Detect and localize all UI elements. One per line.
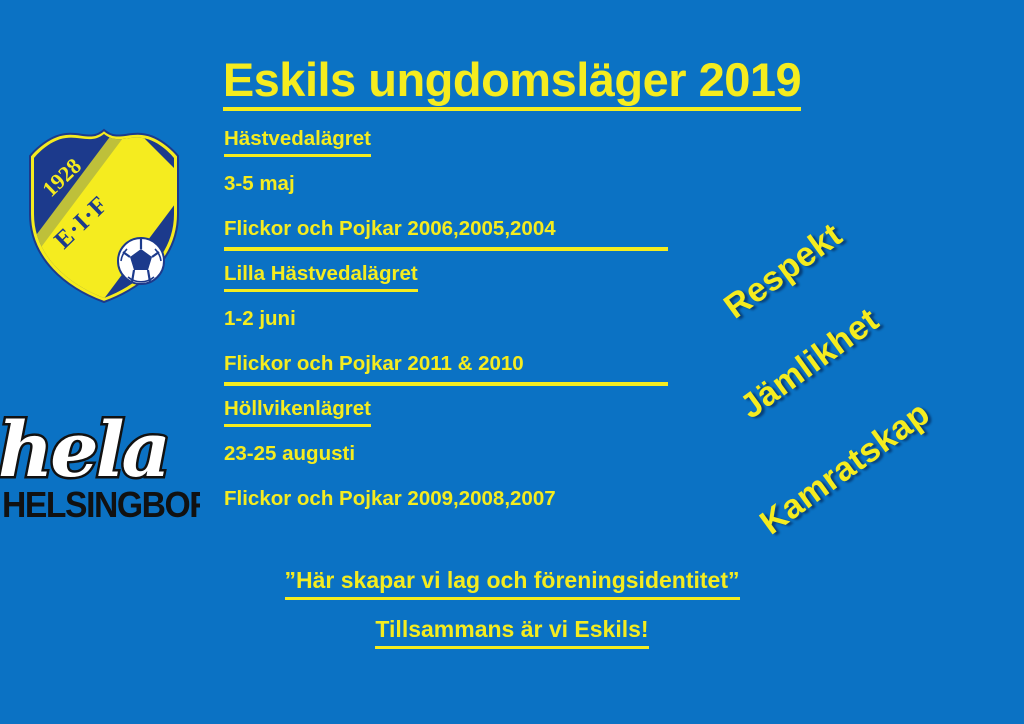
- camp-line-2-text: 3-5 maj: [224, 171, 295, 197]
- camp-line-6-text: Flickor och Pojkar 2011 & 2010: [224, 351, 524, 377]
- camp-line-1: Hästvedalägret: [224, 126, 694, 171]
- camp-line-8: 23-25 augusti: [224, 441, 694, 486]
- camp-line-9-text: Flickor och Pojkar 2009,2008,2007: [224, 486, 556, 512]
- quote-line-2-text: Tillsammans är vi Eskils!: [375, 615, 648, 645]
- camp-line-3: Flickor och Pojkar 2006,2005,2004: [224, 216, 694, 261]
- camp-line-5: 1-2 juni: [224, 306, 694, 351]
- club-crest-logo: 1928 E·I·F: [28, 128, 180, 303]
- camp-line-5-text: 1-2 juni: [224, 306, 296, 332]
- camp-line-6: Flickor och Pojkar 2011 & 2010: [224, 351, 694, 396]
- hela-caps-text: HELSINGBORG: [2, 485, 200, 524]
- quote-block: ”Här skapar vi lag och föreningsidentite…: [0, 566, 1024, 645]
- quote-line-2: Tillsammans är vi Eskils!: [0, 615, 1024, 645]
- soccer-ball-icon: [118, 238, 164, 284]
- camp-line-9: Flickor och Pojkar 2009,2008,2007: [224, 486, 694, 531]
- camp-line-4: Lilla Hästvedalägret: [224, 261, 694, 306]
- hela-script-text: hela: [0, 405, 168, 494]
- value-word-kamratskap: Kamratskap: [753, 394, 937, 543]
- camp-line-2: 3-5 maj: [224, 171, 694, 216]
- camp-line-1-text: Hästvedalägret: [224, 126, 371, 152]
- camp-line-3-text: Flickor och Pojkar 2006,2005,2004: [224, 216, 556, 242]
- camp-line-8-text: 23-25 augusti: [224, 441, 355, 467]
- camp-line-7: Höllvikenlägret: [224, 396, 694, 441]
- value-word-respekt: Respekt: [717, 216, 850, 327]
- poster-canvas: Eskils ungdomsläger 2019 1928 E·I·F: [0, 0, 1024, 724]
- page-title-text: Eskils ungdomsläger 2019: [223, 55, 801, 111]
- page-title: Eskils ungdomsläger 2019: [0, 52, 1024, 111]
- camp-list: Hästvedalägret 3-5 maj Flickor och Pojka…: [224, 126, 694, 531]
- values-group: Respekt Jämlikhet Kamratskap: [720, 160, 1024, 540]
- camp-line-4-text: Lilla Hästvedalägret: [224, 261, 418, 287]
- quote-line-1: ”Här skapar vi lag och föreningsidentite…: [0, 566, 1024, 596]
- hela-helsingborg-logo: hela HELSINGBORG: [0, 396, 200, 524]
- camp-line-7-text: Höllvikenlägret: [224, 396, 371, 422]
- quote-line-1-text: ”Här skapar vi lag och föreningsidentite…: [285, 566, 740, 596]
- value-word-jamlikhet: Jämlikhet: [733, 301, 886, 427]
